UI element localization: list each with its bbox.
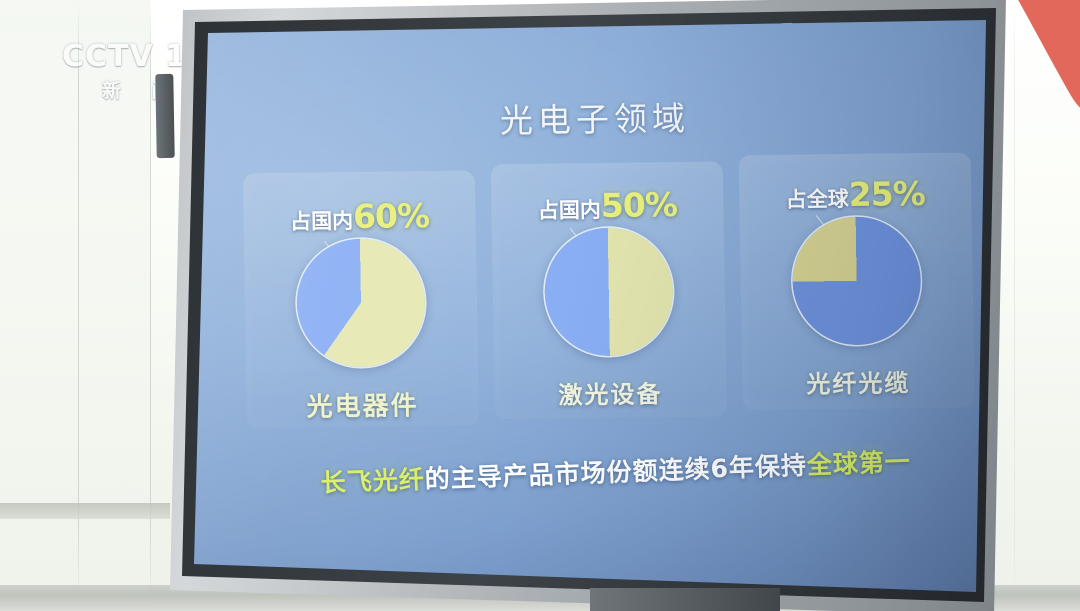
floor-strip-left: [0, 503, 170, 519]
pie-wrapper-1: [240, 237, 482, 375]
wall-seam-3: [1014, 0, 1015, 611]
pie-series-label-1: 光电器件: [242, 384, 483, 424]
display-screen: 光电子领域 占国内60% 光电器件 占国内50%: [150, 0, 1006, 611]
pie-series-label-3: 光纤光缆: [738, 362, 979, 400]
pie-annotation-prefix-1: 占国内: [290, 209, 353, 234]
caption-highlight-start: 长飞光纤: [320, 465, 425, 498]
wall-panel-left: [0, 0, 78, 611]
wall-seam-1: [78, 0, 79, 611]
pie-annotation-1: 占国内60%: [239, 198, 480, 234]
pie-graphic-1: [296, 238, 426, 368]
pie-chart-block-optical-fiber-cable: 占全球25% 光纤光缆: [735, 176, 979, 400]
pie-chart-block-laser-equipment: 占国内50% 激光设备: [487, 187, 731, 411]
pie-graphic-2: [544, 227, 674, 357]
pie-annotation-value-2: 50%: [601, 185, 678, 225]
presentation-slide: 光电子领域 占国内60% 光电器件 占国内50%: [188, 0, 1006, 606]
pie-series-label-2: 激光设备: [490, 373, 731, 411]
side-port-panel: [155, 74, 174, 158]
interactive-flat-panel-display: 光电子领域 占国内60% 光电器件 占国内50%: [150, 0, 1006, 611]
pie-annotation-value-1: 60%: [353, 196, 430, 236]
caption-highlight-end: 全球第一: [806, 447, 911, 480]
wall-panel-mid: [78, 0, 150, 611]
pie-annotation-prefix-3: 占全球: [786, 187, 849, 212]
display-stand: [590, 588, 780, 611]
pie-graphic-3: [792, 216, 922, 346]
pie-chart-block-optoelectronic-devices: 占国内60% 光电器件: [239, 198, 483, 424]
pie-wrapper-2: [488, 226, 730, 364]
pie-wrapper-3: [736, 215, 978, 353]
slide-title: 光电子领域: [190, 88, 1001, 146]
pie-annotation-value-3: 25%: [848, 174, 925, 214]
pie-annotation-3: 占全球25%: [735, 176, 976, 212]
pie-annotation-2: 占国内50%: [487, 187, 728, 223]
slide-caption: 长飞光纤的主导产品市场份额连续6年保持全球第一: [255, 440, 976, 502]
pie-annotation-prefix-2: 占国内: [538, 198, 601, 223]
caption-middle: 的主导产品市场份额连续6年保持: [424, 451, 807, 494]
